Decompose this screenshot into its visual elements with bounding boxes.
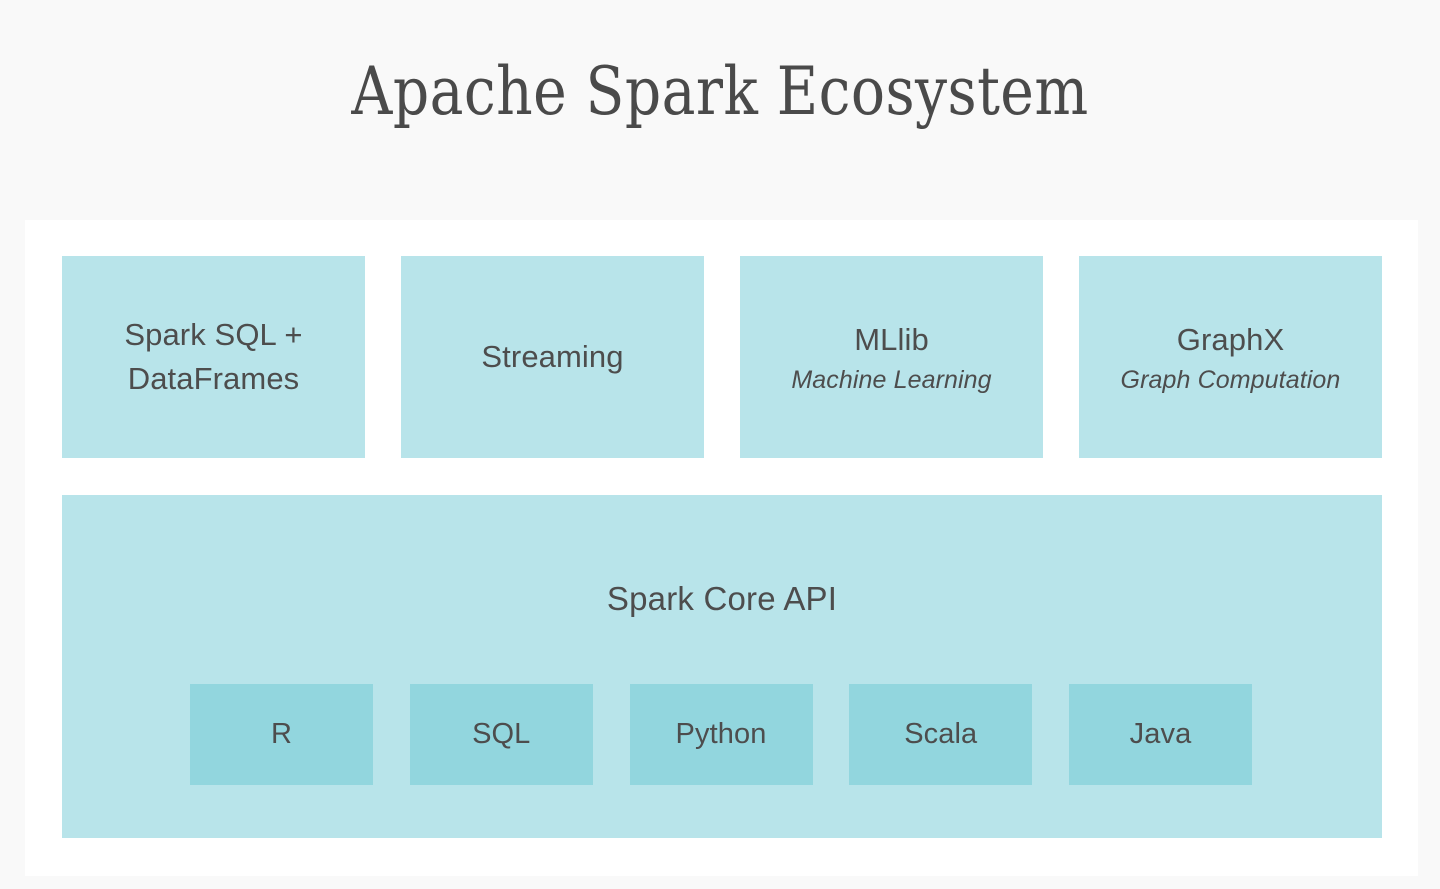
diagram-card: Spark SQL + DataFrames Streaming MLlib M… <box>25 220 1418 876</box>
language-label: Python <box>676 718 767 751</box>
language-label: R <box>271 718 292 751</box>
component-title-line1: Spark SQL + <box>124 313 302 357</box>
component-subtitle: Graph Computation <box>1121 364 1341 397</box>
component-subtitle: Machine Learning <box>791 364 991 397</box>
component-title-line1: Streaming <box>481 335 623 379</box>
language-label: SQL <box>472 718 530 751</box>
component-box-streaming[interactable]: Streaming <box>401 256 704 458</box>
language-row: R SQL Python Scala Java <box>190 684 1252 785</box>
page-title: Apache Spark Ecosystem <box>101 44 1339 144</box>
component-box-spark-sql[interactable]: Spark SQL + DataFrames <box>62 256 365 458</box>
language-label: Scala <box>904 718 977 751</box>
component-box-graphx[interactable]: GraphX Graph Computation <box>1079 256 1382 458</box>
component-title-line1: MLlib <box>854 318 929 362</box>
component-title-line1: GraphX <box>1177 318 1284 362</box>
language-box-r[interactable]: R <box>190 684 373 785</box>
language-box-java[interactable]: Java <box>1069 684 1252 785</box>
component-title-line2: DataFrames <box>128 357 300 401</box>
language-box-scala[interactable]: Scala <box>849 684 1032 785</box>
language-box-python[interactable]: Python <box>630 684 813 785</box>
spark-core-label: Spark Core API <box>62 580 1382 618</box>
component-layer-row: Spark SQL + DataFrames Streaming MLlib M… <box>62 256 1382 458</box>
component-box-mllib[interactable]: MLlib Machine Learning <box>740 256 1043 458</box>
language-label: Java <box>1130 718 1192 751</box>
spark-core-panel[interactable]: Spark Core API R SQL Python Scala Java <box>62 495 1382 838</box>
language-box-sql[interactable]: SQL <box>410 684 593 785</box>
